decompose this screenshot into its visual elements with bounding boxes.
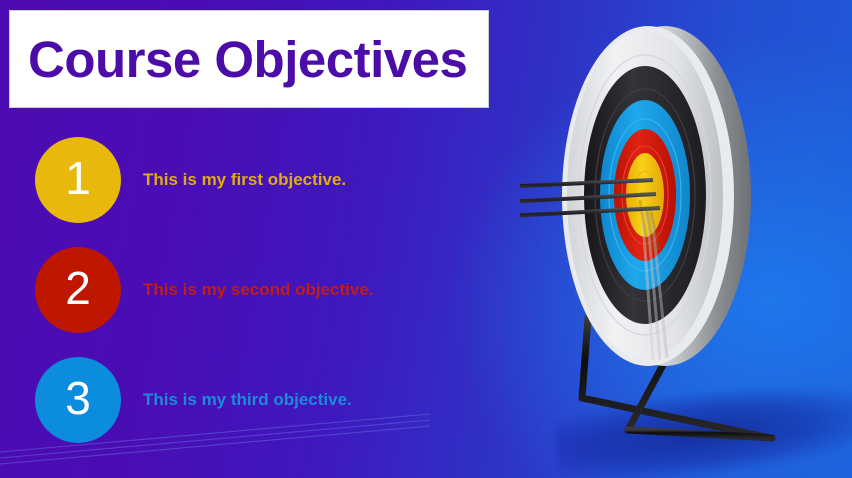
objective-badge-1: 1: [35, 137, 121, 223]
objective-badge-3: 3: [35, 357, 121, 443]
objective-number-3: 3: [65, 375, 91, 421]
objective-number-1: 1: [65, 155, 91, 201]
objective-text-3: This is my third objective.: [143, 390, 352, 410]
objective-badge-2: 2: [35, 247, 121, 333]
slide-canvas: Course Objectives 1 This is my first obj…: [0, 0, 852, 478]
title-box: Course Objectives: [9, 10, 489, 108]
objective-text-1: This is my first objective.: [143, 170, 346, 190]
objective-text-2: This is my second objective.: [143, 280, 374, 300]
objective-row-2: 2 This is my second objective.: [35, 247, 374, 333]
page-title: Course Objectives: [10, 34, 467, 85]
objective-number-2: 2: [65, 265, 91, 311]
objective-row-3: 3 This is my third objective.: [35, 357, 352, 443]
archery-target-illustration: [520, 0, 852, 478]
objective-row-1: 1 This is my first objective.: [35, 137, 346, 223]
